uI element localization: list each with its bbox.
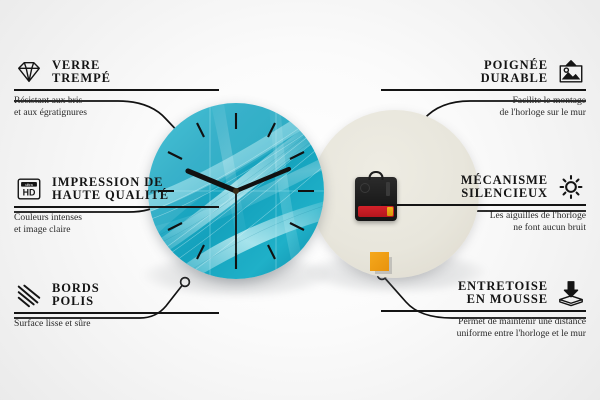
feature-header: ENTRETOISE EN MOUSSE — [381, 279, 586, 310]
desc-line2: uniforme entre l'horloge et le mur — [381, 328, 586, 341]
arrow-down-pad-icon — [556, 279, 586, 307]
feature-description: Couleurs intenses et image claire — [14, 212, 219, 237]
feature-title-line2: TREMPÉ — [52, 72, 111, 86]
feature-title-line2: DURABLE — [481, 72, 548, 86]
desc-line2: ne font aucun bruit — [381, 222, 586, 235]
feature-title-line2: POLIS — [52, 295, 100, 309]
ultra-hd-icon: ultra HD — [14, 175, 44, 203]
feature-poignee-durable: POIGNÉE DURABLE Facilite le montage de l… — [381, 58, 586, 120]
foam-spacer — [370, 252, 389, 271]
feature-rule — [14, 89, 219, 91]
feature-titles: BORDS POLIS — [52, 282, 100, 309]
desc-line2: et image claire — [14, 224, 219, 237]
desc-line1: Résistant aux bris — [14, 95, 219, 108]
feature-rule — [381, 89, 586, 91]
minute-hand — [236, 169, 289, 191]
desc-line1: Surface lisse et sûre — [14, 318, 219, 331]
feature-title-line2: EN MOUSSE — [458, 293, 548, 307]
diamond-icon — [14, 58, 44, 86]
hd-label: HD — [23, 188, 36, 198]
feature-rule — [381, 204, 586, 206]
feature-description: Facilite le montage de l'horloge sur le … — [381, 95, 586, 120]
feature-rule — [381, 310, 586, 312]
desc-line1: Facilite le montage — [381, 95, 586, 108]
feature-description: Permet de maintenir une distance uniform… — [381, 316, 586, 341]
gear-icon — [556, 173, 586, 201]
feature-title-line1: VERRE — [52, 59, 111, 73]
feature-rule — [14, 206, 219, 208]
feature-title-line1: MÉCANISME — [461, 174, 548, 188]
feature-header: ultra HD IMPRESSION DE HAUTE QUALITÉ — [14, 175, 219, 206]
feature-title-line1: BORDS — [52, 282, 100, 296]
hands-pivot — [233, 188, 239, 194]
feature-header: BORDS POLIS — [14, 281, 219, 312]
feature-header: MÉCANISME SILENCIEUX — [381, 173, 586, 204]
diagonal-lines-icon — [14, 281, 44, 309]
hanging-picture-icon — [556, 58, 586, 86]
feature-titles: ENTRETOISE EN MOUSSE — [458, 280, 548, 307]
mechanism-dial — [360, 183, 370, 193]
feature-entretoise-mousse: ENTRETOISE EN MOUSSE Permet de maintenir… — [381, 279, 586, 341]
feature-verre-trempe: VERRE TREMPÉ Résistant aux bris et aux é… — [14, 58, 219, 120]
feature-title-line2: HAUTE QUALITÉ — [52, 189, 169, 203]
feature-title-line1: IMPRESSION DE — [52, 176, 169, 190]
feature-titles: IMPRESSION DE HAUTE QUALITÉ — [52, 176, 169, 203]
feature-titles: VERRE TREMPÉ — [52, 59, 111, 86]
desc-line1: Les aiguilles de l'horloge — [381, 210, 586, 223]
desc-line2: et aux égratignures — [14, 107, 219, 120]
feature-description: Les aiguilles de l'horloge ne font aucun… — [381, 210, 586, 235]
feature-description: Résistant aux bris et aux égratignures — [14, 95, 219, 120]
feature-bords-polis: BORDS POLIS Surface lisse et sûre — [14, 281, 219, 330]
feature-titles: MÉCANISME SILENCIEUX — [461, 174, 548, 201]
feature-mecanisme-silencieux: MÉCANISME SILENCIEUX Les aiguilles de l'… — [381, 173, 586, 235]
feature-titles: POIGNÉE DURABLE — [481, 59, 548, 86]
feature-header: VERRE TREMPÉ — [14, 58, 219, 89]
infographic-canvas: VERRE TREMPÉ Résistant aux bris et aux é… — [0, 0, 600, 400]
feature-description: Surface lisse et sûre — [14, 318, 219, 331]
ultra-label: ultra — [25, 182, 33, 187]
desc-line2: de l'horloge sur le mur — [381, 107, 586, 120]
feature-rule — [14, 312, 219, 314]
feature-impression-haute-qualite: ultra HD IMPRESSION DE HAUTE QUALITÉ Cou… — [14, 175, 219, 237]
feature-header: POIGNÉE DURABLE — [381, 58, 586, 89]
desc-line1: Permet de maintenir une distance — [381, 316, 586, 329]
desc-line1: Couleurs intenses — [14, 212, 219, 225]
feature-title-line2: SILENCIEUX — [461, 187, 548, 201]
feature-title-line1: POIGNÉE — [481, 59, 548, 73]
feature-title-line1: ENTRETOISE — [458, 280, 548, 294]
